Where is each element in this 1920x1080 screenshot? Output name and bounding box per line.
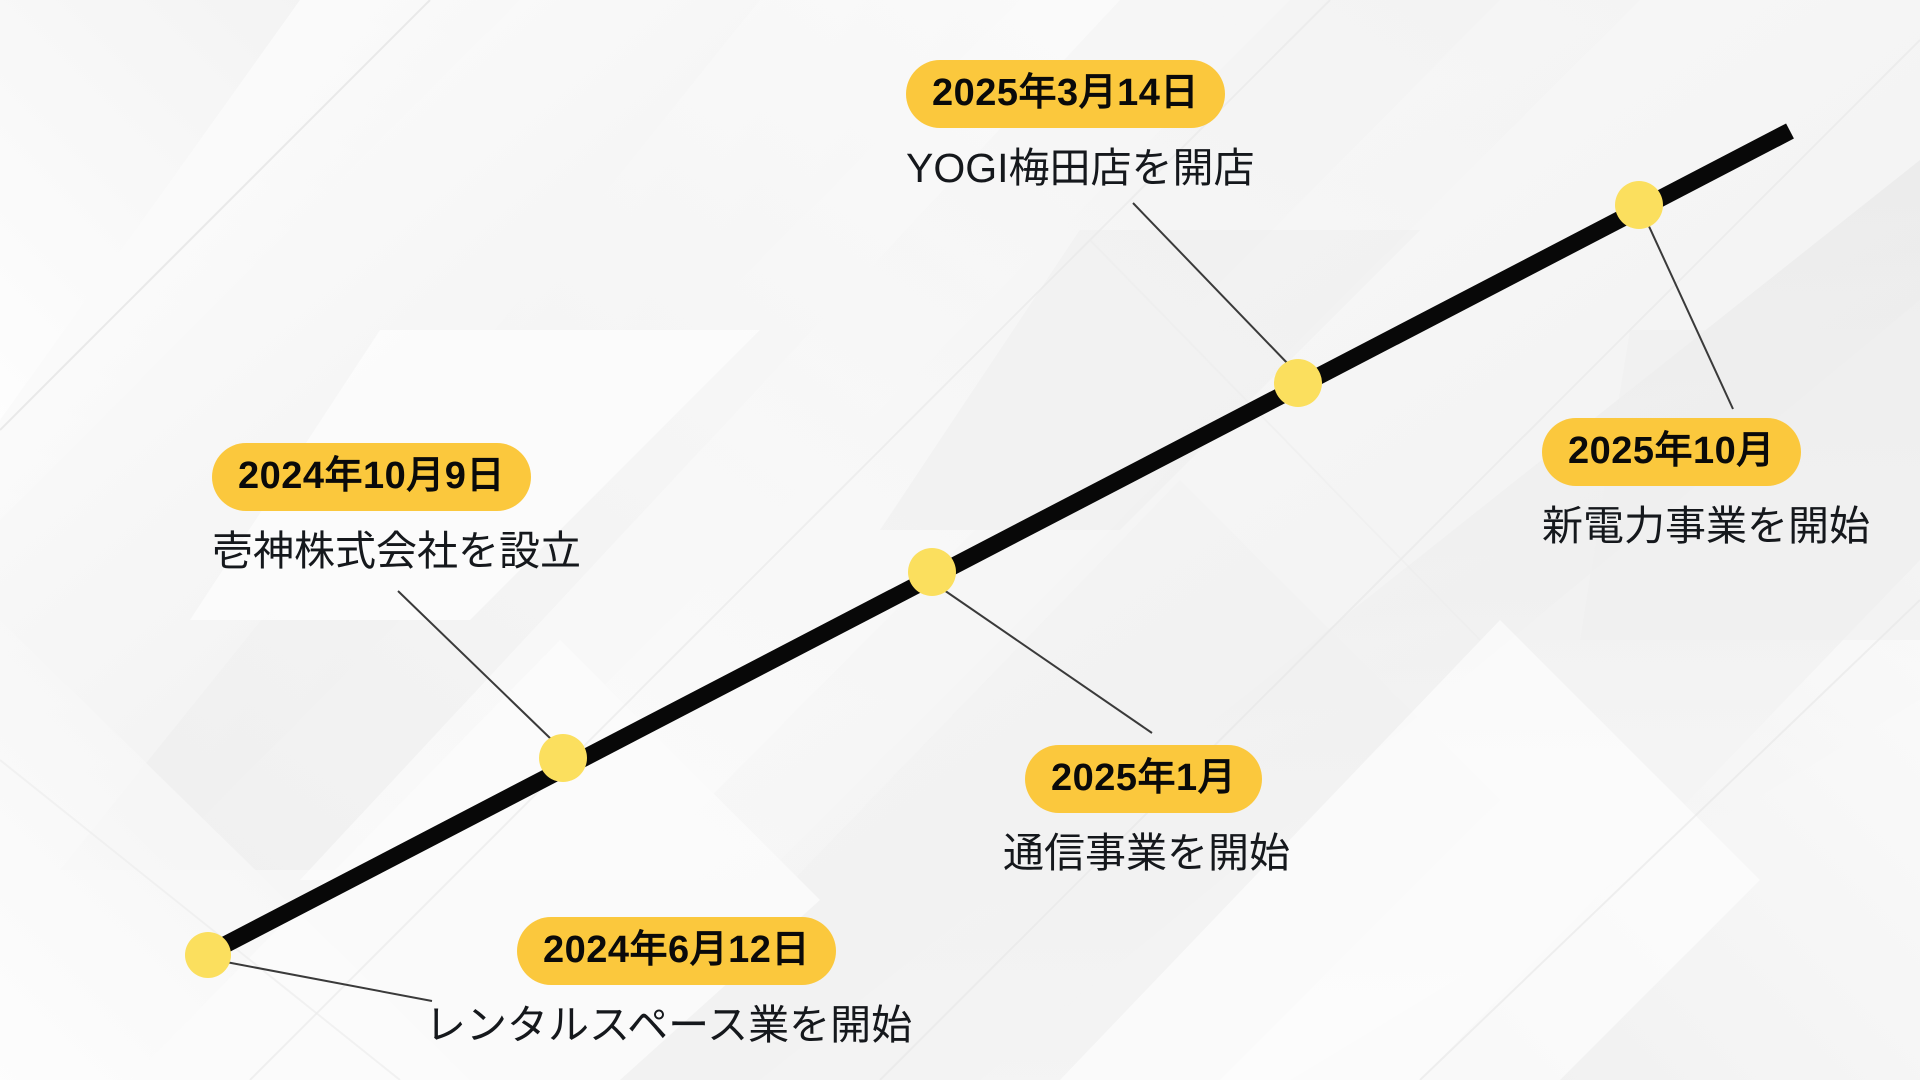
- connector-new-power-business: [1647, 222, 1733, 409]
- timeline-marker-yogi-umeda-store[interactable]: [1274, 359, 1322, 407]
- event-yogi-umeda-store: 2025年3月14日 YOGI梅田店を開店: [906, 60, 1255, 189]
- event-company-founded: 2024年10月9日 壱神株式会社を設立: [212, 443, 581, 572]
- event-description-telecom-business: 通信事業を開始: [1003, 833, 1290, 874]
- event-date-badge-new-power-business: 2025年10月: [1542, 418, 1801, 486]
- connector-telecom-business: [941, 588, 1152, 733]
- event-description-company-founded: 壱神株式会社を設立: [212, 531, 581, 572]
- timeline-marker-company-founded[interactable]: [539, 734, 587, 782]
- event-date-badge-rental-space: 2024年6月12日: [517, 917, 836, 985]
- event-date-badge-telecom-business: 2025年1月: [1025, 745, 1262, 813]
- event-description-new-power-business: 新電力事業を開始: [1542, 506, 1870, 547]
- event-description-yogi-umeda-store: YOGI梅田店を開店: [906, 148, 1255, 189]
- event-rental-space: 2024年6月12日 レンタルスペース業を開始: [517, 917, 912, 1046]
- connector-rental-space: [226, 962, 432, 1001]
- event-date-badge-yogi-umeda-store: 2025年3月14日: [906, 60, 1225, 128]
- connector-company-founded: [398, 591, 552, 740]
- event-telecom-business: 2025年1月 通信事業を開始: [1003, 745, 1290, 874]
- event-description-rental-space: レンタルスペース業を開始: [425, 1005, 912, 1046]
- event-new-power-business: 2025年10月 新電力事業を開始: [1542, 418, 1870, 547]
- timeline-marker-telecom-business[interactable]: [908, 548, 956, 596]
- timeline-infographic: 2025年3月14日 YOGI梅田店を開店 2024年10月9日 壱神株式会社を…: [0, 0, 1920, 1080]
- connector-yogi-umeda-store: [1133, 203, 1290, 366]
- timeline-marker-new-power-business[interactable]: [1615, 181, 1663, 229]
- event-date-badge-company-founded: 2024年10月9日: [212, 443, 531, 511]
- timeline-marker-rental-space[interactable]: [185, 932, 231, 978]
